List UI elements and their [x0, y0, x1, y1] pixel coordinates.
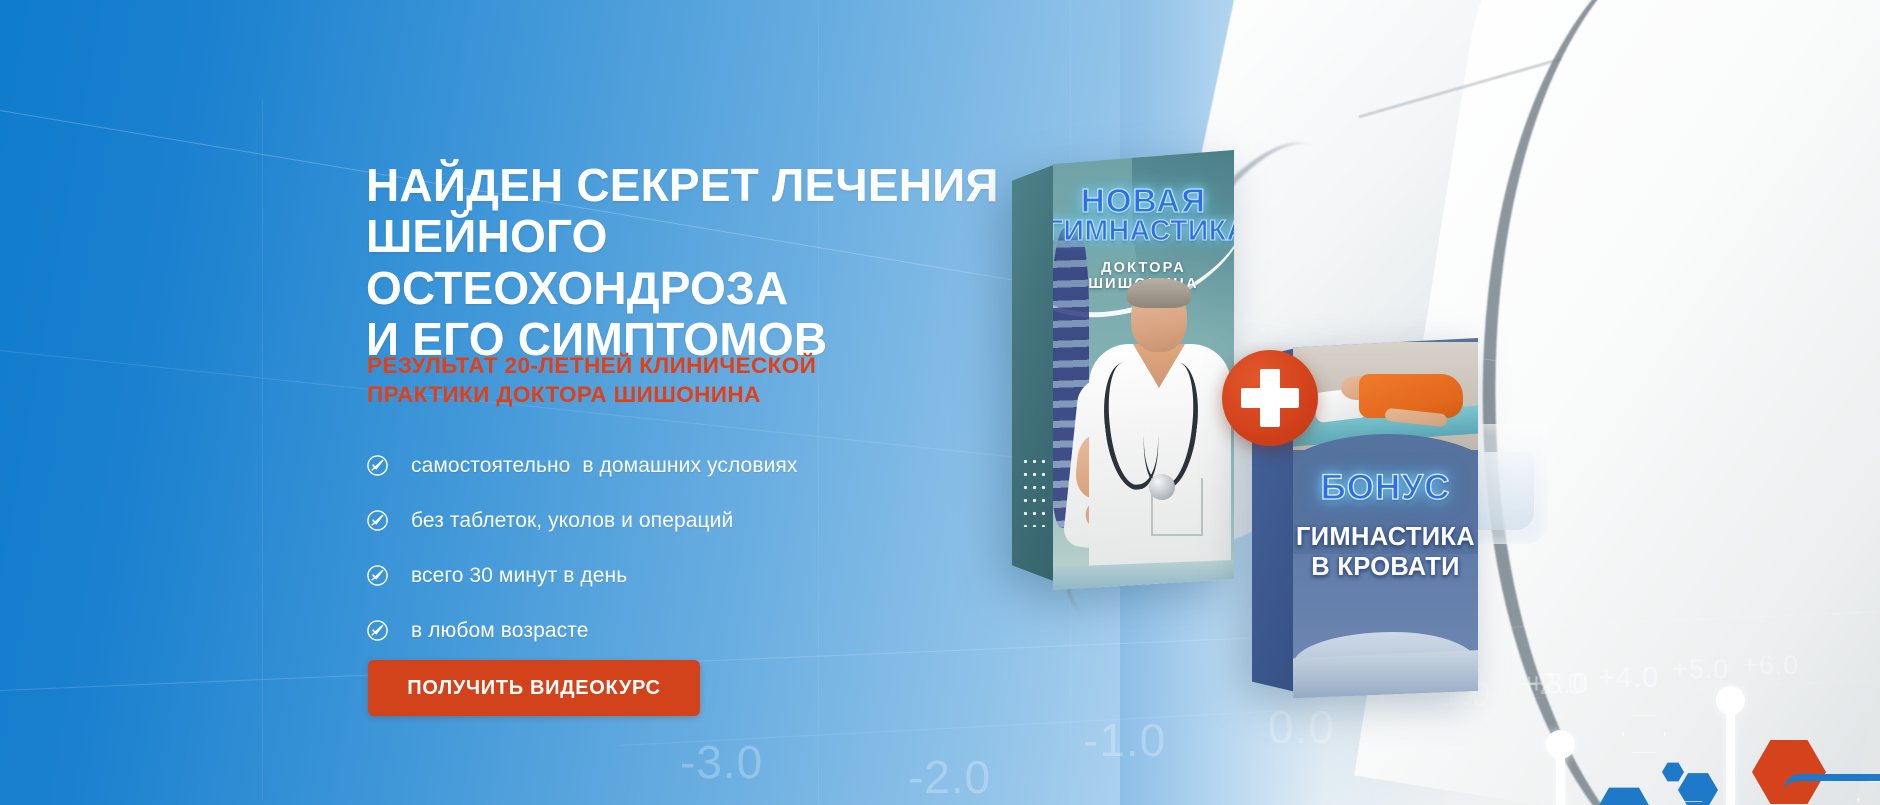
page-subtitle: РЕЗУЛЬТАТ 20-ЛЕТНЕЙ КЛИНИЧЕСКОЙ ПРАКТИКИ…	[367, 352, 967, 410]
list-item: без таблеток, уколов и операций	[366, 493, 986, 548]
axis-label-pos6: +6.0	[1742, 650, 1799, 681]
benefit-label: без таблеток, уколов и операций	[411, 509, 733, 533]
bonus-subtitle-line-2: В КРОВАТИ	[1311, 553, 1459, 581]
bonus-subtitle: ГИМНАСТИКА В КРОВАТИ	[1293, 522, 1478, 582]
map-pin-right	[1726, 712, 1735, 805]
check-circle-icon	[366, 509, 389, 532]
bonus-subtitle-line-1: ГИМНАСТИКА	[1296, 523, 1475, 551]
benefit-label: в любом возрасте	[411, 619, 589, 643]
hexagon-blue-small	[1662, 762, 1684, 782]
coat-dark-shirt	[1385, 0, 1715, 312]
product-box-front: НОВАЯ ГИМНАСТИКА ДОКТОРА ШИШОНИНА	[1053, 150, 1234, 590]
bonus-title: БОНУС	[1293, 468, 1478, 508]
polyline-decor	[1784, 774, 1880, 805]
hexagon-blue-large	[1594, 786, 1654, 805]
benefits-list: самостоятельно в домашних условиях без т…	[366, 438, 986, 658]
axis-label-pos3: +3.0	[1528, 668, 1589, 701]
map-pin-left	[1556, 756, 1565, 805]
product-title-line-2: ГИМНАСТИКА	[1053, 215, 1234, 248]
hexagon-outline-a	[1622, 714, 1666, 754]
axis-label-neg1: -1.0	[1083, 713, 1166, 767]
plus-icon	[1222, 350, 1318, 446]
check-circle-icon	[366, 454, 389, 477]
spine-dot-pattern	[1021, 455, 1049, 527]
doctor-hair	[1127, 278, 1191, 308]
bonus-box-front: БОНУС ГИМНАСТИКА В КРОВАТИ	[1293, 338, 1478, 698]
benefit-label: всего 30 минут в день	[411, 564, 627, 588]
doctor-figure	[1069, 278, 1234, 590]
check-circle-icon	[366, 619, 389, 642]
get-videocourse-button[interactable]: ПОЛУЧИТЬ ВИДЕОКУРС	[368, 660, 700, 716]
hexagon-blue-mid	[1678, 772, 1718, 805]
subheadline-line-1: РЕЗУЛЬТАТ 20-ЛЕТНЕЙ КЛИНИЧЕСКОЙ	[367, 353, 816, 378]
list-item: всего 30 минут в день	[366, 548, 986, 603]
product-box-main[interactable]: НОВАЯ ГИМНАСТИКА ДОКТОРА ШИШОНИНА	[1012, 150, 1234, 590]
doctor-stethoscope-disc	[1149, 474, 1175, 500]
subheadline-line-2: ПРАКТИКИ ДОКТОРА ШИШОНИНА	[367, 382, 761, 407]
headline-line-1: НАЙДЕН СЕКРЕТ ЛЕЧЕНИЯ	[366, 159, 999, 211]
axis-label-zero: 0.0	[1268, 700, 1335, 754]
axis-label-pos5: +5.0	[1672, 654, 1729, 685]
page-title: НАЙДЕН СЕКРЕТ ЛЕЧЕНИЯ ШЕЙНОГО ОСТЕОХОНДР…	[366, 160, 1026, 365]
hero-banner: -3.0 -2.0 -1.0 0.0 +1.0 +2.0 +3.0 +4.0 +…	[0, 0, 1880, 805]
benefit-label: самостоятельно в домашних условиях	[411, 454, 797, 478]
coat-pocket	[1359, 58, 1582, 188]
list-item: самостоятельно в домашних условиях	[366, 438, 986, 493]
product-box-spine	[1012, 164, 1056, 582]
check-circle-icon	[366, 564, 389, 587]
headline-line-2: ШЕЙНОГО ОСТЕОХОНДРОЗА	[366, 210, 788, 313]
axis-label-pos4: +4.0	[1598, 662, 1659, 695]
hero-copy: НАЙДЕН СЕКРЕТ ЛЕЧЕНИЯ ШЕЙНОГО ОСТЕОХОНДР…	[366, 0, 1006, 805]
list-item: в любом возрасте	[366, 603, 986, 658]
